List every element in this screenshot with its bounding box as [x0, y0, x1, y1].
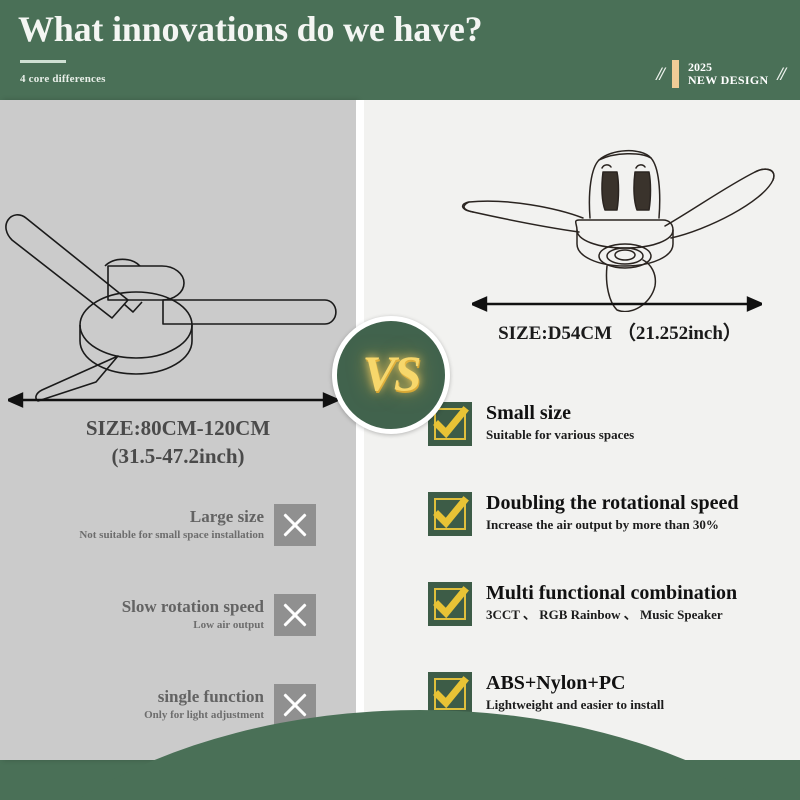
left-size-line2: (31.5-47.2inch) [0, 443, 356, 471]
left-comparison-panel: SIZE:80CM-120CM (31.5-47.2inch) Large si… [0, 100, 356, 760]
pro-text-group: Multi functional combination 3CCT 、 RGB … [486, 582, 737, 623]
check-icon-mark [430, 404, 470, 444]
cross-icon [274, 594, 316, 636]
right-dimension-arrow-icon [472, 296, 762, 312]
pro-title: Small size [486, 402, 634, 425]
pro-title: Doubling the rotational speed [486, 492, 738, 515]
pro-subtitle: Increase the air output by more than 30% [486, 517, 738, 533]
left-dimension-arrow-icon [8, 392, 338, 408]
right-size-caption: SIZE:D54CM （21.252inch） [455, 318, 785, 345]
pro-text-group: Doubling the rotational speed Increase t… [486, 492, 738, 533]
comparison-infographic: What innovations do we have? 4 core diff… [0, 0, 800, 800]
pro-subtitle: 3CCT 、 RGB Rainbow 、 Music Speaker [486, 607, 737, 623]
list-item: Multi functional combination 3CCT 、 RGB … [428, 582, 800, 630]
header-bar: What innovations do we have? 4 core diff… [0, 0, 800, 100]
check-icon [428, 672, 472, 716]
low-profile-ceiling-fan-illustration [455, 132, 785, 312]
pro-text-group: ABS+Nylon+PC Lightweight and easier to i… [486, 672, 664, 713]
pro-text-group: Small size Suitable for various spaces [486, 402, 634, 443]
pro-title: ABS+Nylon+PC [486, 672, 664, 695]
check-icon [428, 492, 472, 536]
con-text-group: Large size Not suitable for small space … [79, 507, 264, 543]
con-title: Slow rotation speed [122, 597, 264, 617]
pro-title: Multi functional combination [486, 582, 737, 605]
con-subtitle: Only for light adjustment [144, 709, 264, 723]
left-size-line1: SIZE:80CM-120CM [0, 415, 356, 443]
con-text-group: single function Only for light adjustmen… [144, 687, 264, 723]
list-item: Small size Suitable for various spaces [428, 402, 800, 450]
list-item: Large size Not suitable for small space … [0, 500, 356, 550]
pros-list: Small size Suitable for various spaces D… [428, 402, 800, 762]
versus-flame-icon: VS [362, 348, 419, 398]
check-icon-mark [430, 494, 470, 534]
pro-subtitle: Suitable for various spaces [486, 427, 634, 443]
badge-text-group: 2025 NEW DESIGN [688, 61, 768, 87]
panel-divider [356, 100, 364, 760]
con-subtitle: Low air output [122, 619, 264, 633]
badge-accent-bar-icon [672, 60, 679, 88]
list-item: Slow rotation speed Low air output [0, 590, 356, 640]
check-icon-mark [430, 674, 470, 714]
left-size-caption: SIZE:80CM-120CM (31.5-47.2inch) [0, 415, 356, 470]
header-subtitle: 4 core differences [20, 73, 106, 85]
title-underline-rule [20, 60, 66, 63]
cross-icon [274, 504, 316, 546]
badge-caption: NEW DESIGN [688, 74, 768, 87]
con-text-group: Slow rotation speed Low air output [122, 597, 264, 633]
slash-decoration-left-icon: // [656, 65, 663, 84]
con-subtitle: Not suitable for small space installatio… [79, 529, 264, 543]
pro-subtitle: Lightweight and easier to install [486, 697, 664, 713]
new-design-badge: // 2025 NEW DESIGN // [656, 58, 784, 90]
slash-decoration-right-icon: // [777, 65, 784, 84]
con-title: single function [144, 687, 264, 707]
check-icon [428, 582, 472, 626]
check-icon [428, 402, 472, 446]
large-ceiling-fan-illustration [0, 208, 350, 408]
con-title: Large size [79, 507, 264, 527]
list-item: Doubling the rotational speed Increase t… [428, 492, 800, 540]
check-icon-mark [430, 584, 470, 624]
page-title: What innovations do we have? [18, 8, 482, 50]
